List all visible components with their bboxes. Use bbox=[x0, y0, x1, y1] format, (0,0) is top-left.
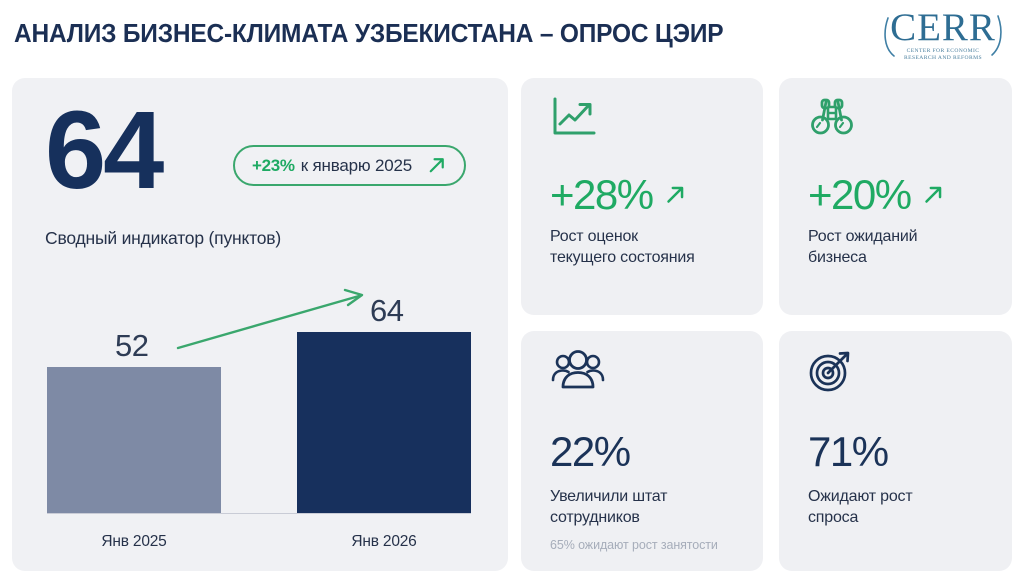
stat-footnote-staff: 65% ожидают рост занятости bbox=[550, 538, 718, 552]
card-growth-expectations: +20% Рост ожиданий бизнеса bbox=[779, 78, 1012, 315]
summary-indicator-card: 64 +23% к январю 2025 Сводный индикатор … bbox=[12, 78, 508, 571]
people-group-icon bbox=[550, 349, 606, 393]
cerr-logo: CERR CENTER FOR ECONOMIC RESEARCH AND RE… bbox=[876, 8, 1010, 64]
caption-line-1: Рост ожиданий bbox=[808, 226, 917, 247]
logo-wordmark: CERR bbox=[876, 8, 1010, 48]
delta-badge: +23% к январю 2025 bbox=[233, 145, 466, 186]
stat-caption-growth-current: Рост оценок текущего состояния bbox=[550, 226, 695, 268]
target-arrow-icon bbox=[808, 349, 856, 393]
bar-jan-2025 bbox=[47, 367, 221, 513]
caption-line-2: сотрудников bbox=[550, 507, 667, 528]
stat-number: +28% bbox=[550, 174, 653, 216]
caption-line-1: Увеличили штат bbox=[550, 486, 667, 507]
delta-period-label: к январю 2025 bbox=[301, 156, 412, 176]
stat-number: +20% bbox=[808, 174, 911, 216]
summary-indicator-value: 64 bbox=[45, 96, 161, 206]
arrow-up-right-icon bbox=[425, 154, 448, 177]
caption-line-2: текущего состояния bbox=[550, 247, 695, 268]
summary-indicator-caption: Сводный индикатор (пунктов) bbox=[45, 228, 281, 249]
logo-subtitle-line2: RESEARCH AND REFORMS bbox=[876, 55, 1010, 62]
card-growth-current: +28% Рост оценок текущего состояния bbox=[521, 78, 763, 315]
stat-value-demand: 71% bbox=[808, 431, 888, 473]
caption-line-1: Рост оценок bbox=[550, 226, 695, 247]
bar-jan-2026 bbox=[297, 332, 471, 513]
stat-value-growth-current: +28% bbox=[550, 174, 688, 216]
stat-number: 22% bbox=[550, 431, 630, 473]
arrow-up-right-icon bbox=[662, 182, 688, 208]
stat-number: 71% bbox=[808, 431, 888, 473]
bar-value-jan-2025: 52 bbox=[115, 328, 148, 364]
page-header: АНАЛИЗ БИЗНЕС-КЛИМАТА УЗБЕКИСТАНА – ОПРО… bbox=[0, 0, 1024, 70]
bar-label-jan-2026: Янв 2026 bbox=[297, 533, 471, 551]
bar-value-jan-2026: 64 bbox=[370, 293, 403, 329]
card-staff-increase: 22% Увеличили штат сотрудников 65% ожида… bbox=[521, 331, 763, 571]
caption-line-1: Ожидают рост bbox=[808, 486, 912, 507]
stat-caption-staff: Увеличили штат сотрудников bbox=[550, 486, 667, 528]
stat-value-staff: 22% bbox=[550, 431, 630, 473]
card-demand-growth: 71% Ожидают рост спроса bbox=[779, 331, 1012, 571]
stat-caption-demand: Ожидают рост спроса bbox=[808, 486, 912, 528]
stat-caption-growth-expectations: Рост ожиданий бизнеса bbox=[808, 226, 917, 268]
bar-chart: 52 64 Янв 2025 Янв 2026 bbox=[12, 273, 508, 571]
bar-label-jan-2025: Янв 2025 bbox=[47, 533, 221, 551]
stat-value-growth-expectations: +20% bbox=[808, 174, 946, 216]
caption-line-2: спроса bbox=[808, 507, 912, 528]
arrow-up-right-icon bbox=[920, 182, 946, 208]
page-title: АНАЛИЗ БИЗНЕС-КЛИМАТА УЗБЕКИСТАНА – ОПРО… bbox=[14, 20, 723, 49]
delta-percent: +23% bbox=[252, 156, 295, 176]
logo-subtitle-line1: CENTER FOR ECONOMIC bbox=[876, 48, 1010, 55]
caption-line-2: бизнеса bbox=[808, 247, 917, 268]
line-chart-up-icon bbox=[550, 96, 598, 140]
binoculars-icon bbox=[808, 96, 856, 140]
